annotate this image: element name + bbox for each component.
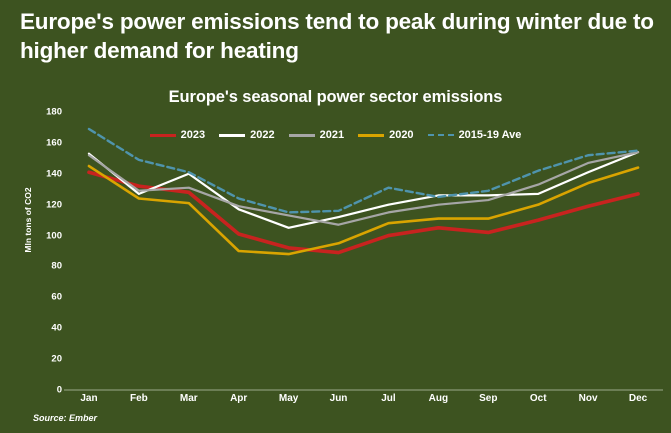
plot-area — [0, 0, 671, 433]
source-note: Source: Ember — [33, 413, 97, 423]
series-line-2023 — [89, 172, 638, 252]
chart-canvas: Europe's power emissions tend to peak du… — [0, 0, 671, 433]
series-line-2015-19-ave — [89, 129, 638, 212]
